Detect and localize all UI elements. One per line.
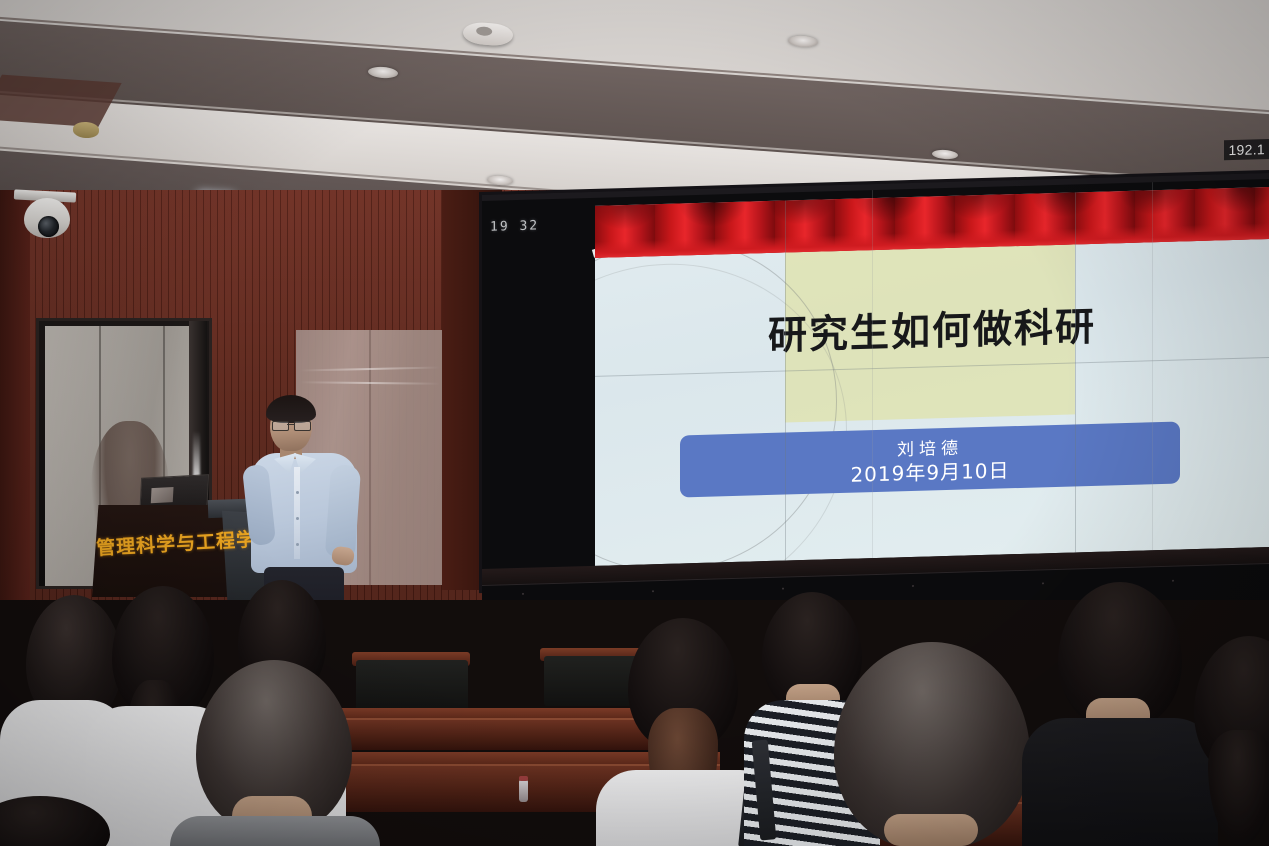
ip-address-badge: 192.1 <box>1224 139 1269 160</box>
led-panel-seam <box>1075 192 1076 552</box>
desk-front <box>330 718 660 750</box>
digital-clock: 19 32 <box>490 218 539 234</box>
chair-seatback <box>356 660 468 712</box>
led-panel-seam <box>785 201 786 561</box>
water-bottle <box>519 780 528 802</box>
lecture-hall-photo: 192.1 19 32 研究生如何做科研 刘培德 2019年9月10日 <box>0 0 1269 846</box>
presentation-slide[interactable]: 研究生如何做科研 刘培德 2019年9月10日 <box>595 187 1269 566</box>
speaker-hair <box>266 395 316 423</box>
video-wall-seam <box>872 190 873 579</box>
audience-torso <box>1022 718 1218 846</box>
wall-left-edge <box>0 190 30 670</box>
audience-neck <box>884 814 978 846</box>
glasses-icon <box>271 421 311 429</box>
bottle-cap <box>519 776 528 781</box>
speaker-right-arm <box>325 464 361 558</box>
led-video-wall[interactable]: 192.1 19 32 研究生如何做科研 刘培德 2019年9月10日 <box>482 173 1269 590</box>
slide-curtain-banner <box>595 187 1269 258</box>
audience-seating-area <box>0 600 1269 846</box>
audience-torso-foreground <box>170 816 380 846</box>
video-wall-seam <box>1152 182 1153 571</box>
curtain-scallops <box>595 187 1269 246</box>
slide-author-bar: 刘培德 2019年9月10日 <box>680 422 1180 498</box>
camera-lens-icon <box>38 216 59 237</box>
